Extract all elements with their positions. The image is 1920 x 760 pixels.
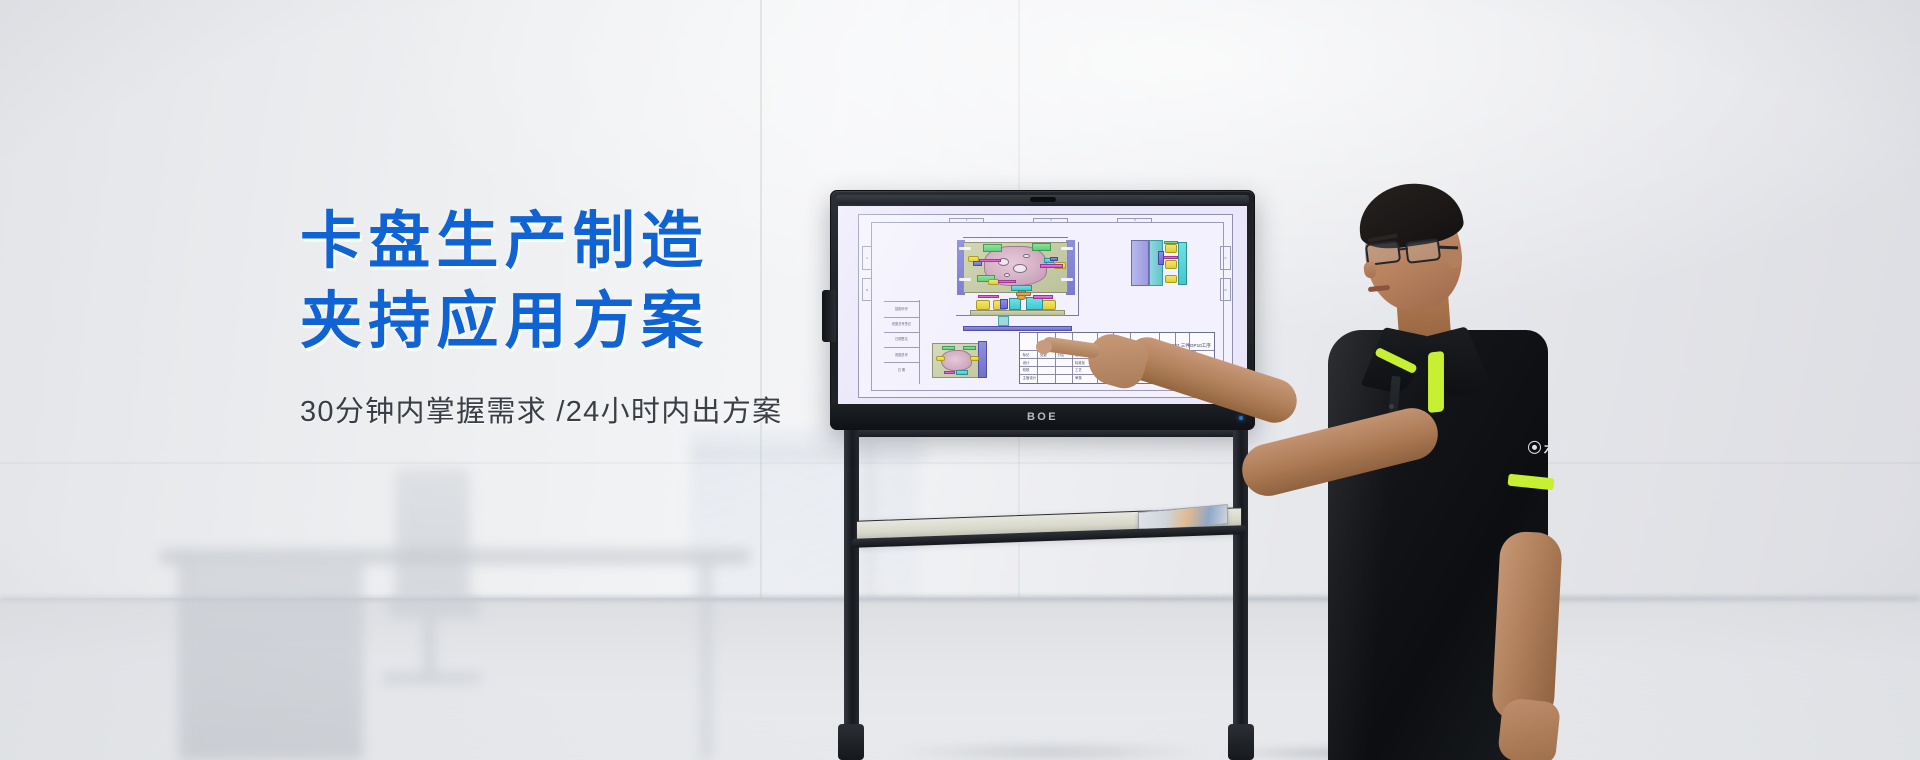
shirt-button-1: [1389, 404, 1394, 409]
zone-marker-a: A: [862, 246, 873, 269]
front-clamp-yellow-3: [1042, 300, 1056, 310]
casting-bore-2: [1013, 264, 1026, 273]
camera-icon: [1030, 197, 1056, 202]
side-view-backplate: [1131, 240, 1149, 287]
clamp-green-1: [983, 244, 1002, 252]
plate-slot-3: [1061, 247, 1072, 249]
dimension-line-right: [1078, 242, 1079, 315]
hero-banner: 卡盘生产制造 夹持应用方案 30分钟内掌握需求 /24小时内出方案 A: [0, 0, 1920, 760]
front-clamp-blue-1: [1000, 299, 1008, 309]
border-label-4: 日 期: [884, 362, 920, 375]
iso-clamp-yellow-2: [970, 356, 979, 361]
chest-logo-text: 六联: [1544, 439, 1571, 457]
plate-slot-2: [959, 278, 970, 280]
dimension-line-top: [963, 237, 1068, 238]
right-hand: [1497, 697, 1561, 760]
page-subtitle: 30分钟内掌握需求 /24小时内出方案: [300, 388, 920, 430]
plate-slot-4: [1061, 278, 1072, 280]
clamp-green-2: [1032, 243, 1051, 251]
zone-marker-3: 3: [1117, 218, 1152, 223]
border-label-0: 描图代号: [884, 301, 920, 314]
iso-clamp-yellow-1: [936, 356, 945, 361]
tb-left-row-2: 主管设计: [1023, 375, 1037, 380]
tb-mid-row-0: 标准化: [1075, 360, 1085, 365]
tb-left-row-0: 设计: [1023, 360, 1030, 365]
iso-view-backplate: [978, 341, 987, 378]
front-clamp-magenta-1: [978, 295, 999, 299]
clamp-magenta-3: [998, 280, 1016, 283]
iso-clamp-green-1: [942, 346, 955, 350]
zone-marker-b: B: [862, 278, 873, 301]
stand-post-left: [844, 428, 859, 760]
chest-logo: 六联: [1528, 437, 1585, 460]
front-clamp-yellow-1: [976, 300, 990, 310]
front-view-leg: [998, 316, 1009, 326]
tb-left-row-1: 校核: [1023, 367, 1030, 372]
page-title-line-1: 卡盘生产制造: [300, 206, 920, 278]
iso-clamp-cyan-1: [956, 370, 968, 375]
presenter: 六联: [1160, 180, 1580, 760]
clamp-blue-1: [973, 261, 982, 265]
circle-mark-icon: [1528, 440, 1542, 454]
zone-marker-2: 2: [1033, 218, 1068, 223]
iso-clamp-green-2: [963, 346, 976, 350]
front-view-base: [970, 310, 1065, 317]
casting-bore-4: [1004, 273, 1010, 277]
front-clamp-magenta-2: [1033, 295, 1053, 299]
casting-bore-3: [1023, 254, 1030, 259]
border-label-3: 底图总号: [884, 347, 920, 360]
clamp-blue-2: [1050, 257, 1058, 261]
iso-view-workpiece: [941, 350, 973, 372]
fingertip: [1036, 340, 1052, 354]
cad-revision-column: 描图代号 底图总号签记 日期签名 底图总号 日 期: [884, 300, 921, 384]
plate-slot-1: [959, 247, 970, 249]
zone-marker-1: 1: [949, 218, 984, 223]
iso-clamp-magenta-1: [944, 371, 955, 374]
display-brand-logo: BOE: [1027, 411, 1058, 423]
border-label-2: 日期签名: [884, 332, 920, 345]
front-clamp-orange-1: [1017, 295, 1026, 300]
clamp-magenta-2: [1040, 264, 1062, 267]
tb-mid-row-2: 审核: [1075, 375, 1082, 380]
border-label-1: 底图总号签记: [884, 317, 920, 330]
tb-mid-row-1: 工艺: [1075, 367, 1082, 372]
tb-header-0: 标记: [1023, 352, 1030, 357]
front-clamp-cyan-1: [1009, 298, 1021, 310]
stand-foot-left: [838, 724, 864, 760]
glasses-lens-right: [1405, 238, 1441, 264]
display-side-mount: [822, 290, 836, 342]
collar-trim-right: [1428, 351, 1444, 413]
clamp-cyan-2: [1011, 285, 1032, 291]
right-arm: [1491, 531, 1563, 724]
front-view-foot: [963, 326, 1072, 331]
